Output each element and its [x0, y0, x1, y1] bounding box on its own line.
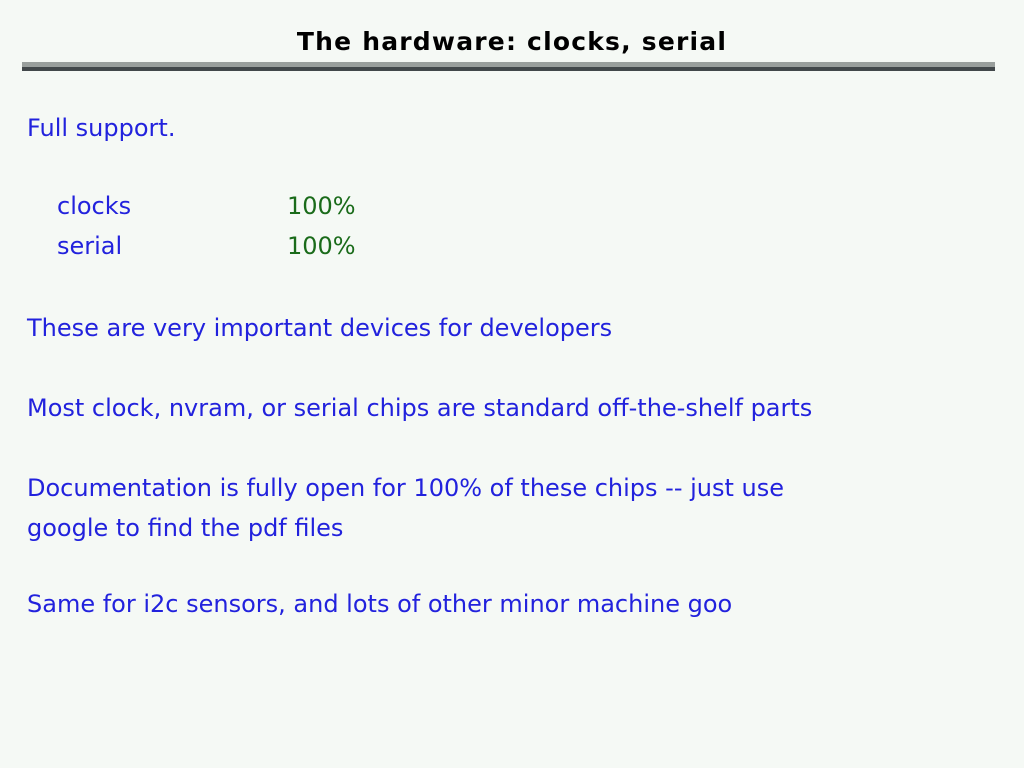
body-paragraph-4: Same for i2c sensors, and lots of other … — [27, 584, 987, 624]
table-row: serial 100% — [57, 226, 356, 266]
support-device-value: 100% — [287, 186, 356, 226]
body-paragraph-1: These are very important devices for dev… — [27, 308, 987, 348]
table-row: clocks 100% — [57, 186, 356, 226]
spacer — [27, 548, 987, 584]
spacer — [27, 348, 987, 388]
slide-body: Full support. clocks 100% serial 100% Th… — [27, 108, 987, 624]
title-divider — [22, 62, 995, 71]
slide: The hardware: clocks, serial Full suppor… — [0, 0, 1024, 768]
title-divider-shadow — [22, 67, 995, 71]
support-device-name: clocks — [57, 186, 287, 226]
page-title: The hardware: clocks, serial — [0, 27, 1024, 56]
lead-text: Full support. — [27, 108, 987, 148]
spacer — [27, 266, 987, 308]
spacer — [27, 428, 987, 468]
support-device-value: 100% — [287, 226, 356, 266]
body-paragraph-3: Documentation is fully open for 100% of … — [27, 468, 987, 548]
support-device-name: serial — [57, 226, 287, 266]
body-paragraph-2: Most clock, nvram, or serial chips are s… — [27, 388, 987, 428]
support-table: clocks 100% serial 100% — [57, 186, 356, 266]
